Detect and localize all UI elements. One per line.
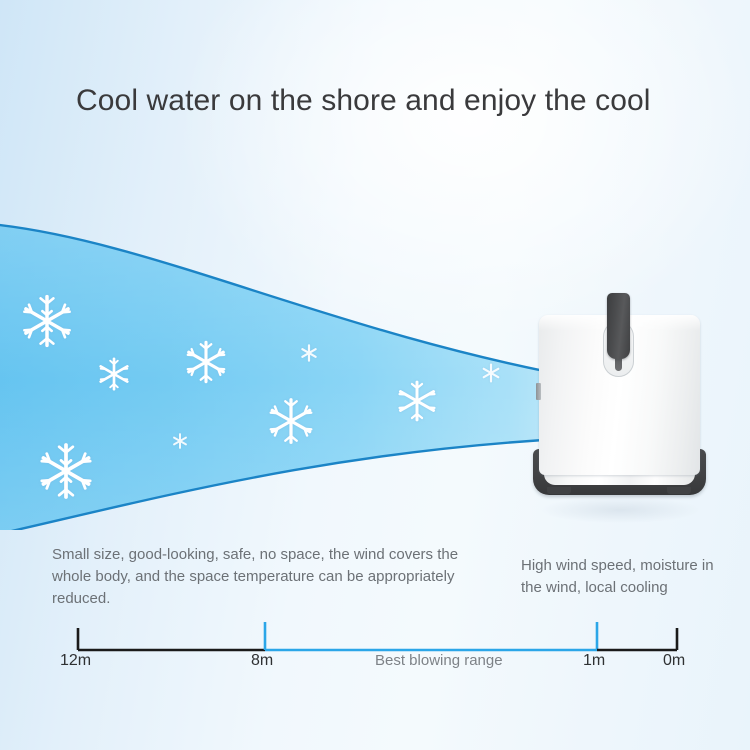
feature-caption-left: Small size, good-looking, safe, no space…: [52, 544, 462, 610]
snowflake-icon: [18, 292, 76, 350]
ruler-tick-label-8m: 8m: [251, 652, 273, 670]
page-title: Cool water on the shore and enjoy the co…: [76, 84, 651, 118]
ruler-tick-label-0m: 0m: [663, 652, 685, 670]
portable-air-cooler-device: [527, 297, 712, 507]
device-handle: [607, 293, 630, 359]
snowflake-icon: [265, 395, 317, 447]
snowflake-icon: [171, 432, 189, 450]
device-foot-right: [667, 487, 691, 494]
ruler-tick-label-1m: 1m: [583, 652, 605, 670]
feature-caption-right: High wind speed, moisture in the wind, l…: [521, 555, 731, 599]
best-blowing-range-label: Best blowing range: [375, 652, 503, 669]
device-side-port: [536, 383, 541, 400]
device-reflection: [541, 497, 699, 523]
snowflake-icon: [480, 362, 502, 384]
snowflake-icon: [299, 343, 319, 363]
snowflake-icon: [95, 355, 133, 393]
device-foot-left: [547, 487, 571, 494]
snowflake-icon: [35, 440, 97, 502]
ruler-tick-label-12m: 12m: [60, 652, 91, 670]
snowflake-icon: [394, 378, 440, 424]
product-promo-image: Cool water on the shore and enjoy the co…: [0, 0, 750, 750]
snowflake-icon: [182, 338, 230, 386]
